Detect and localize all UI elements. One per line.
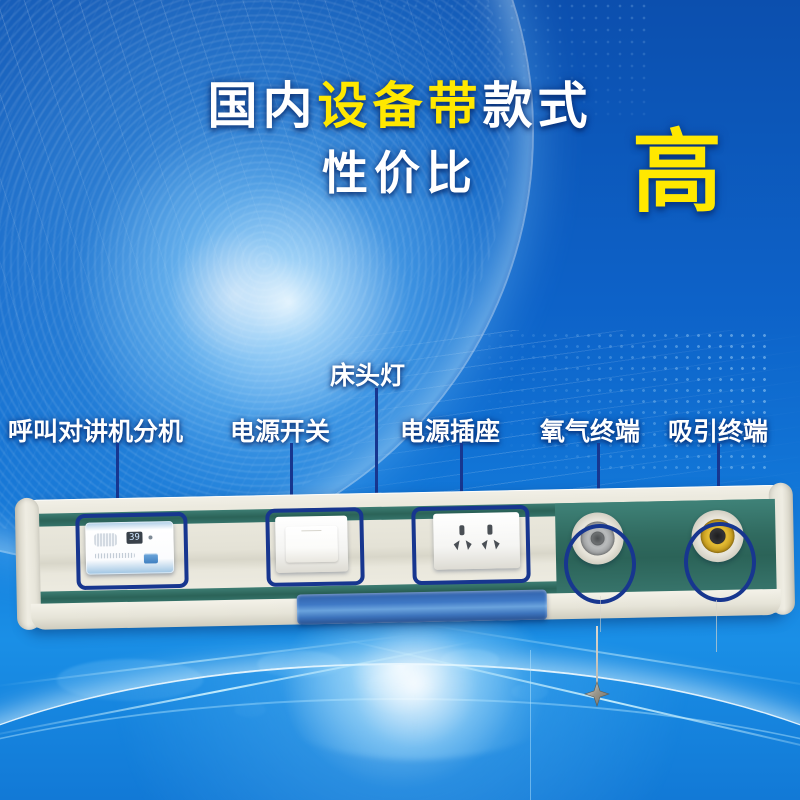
vertical-accent-line: [530, 650, 531, 800]
swoosh-line-3: [0, 634, 409, 687]
promo-banner: 国内设备带款式 性价比 高 呼叫对讲机分机 电源开关 床头灯 电源插座 氧气终端…: [0, 0, 800, 800]
horizon-arc-glow: [0, 663, 800, 800]
hanging-wire-thin: [600, 596, 601, 632]
swoosh-line-2: [337, 637, 800, 765]
highlight-box-power-switch: [265, 507, 365, 587]
callout-label-intercom: 呼叫对讲机分机: [8, 412, 183, 448]
headline-line-2-wrap: 性价比 高: [0, 134, 800, 226]
headline-text-1a: 国内: [208, 77, 318, 135]
horizon-arc-outer: [0, 698, 800, 800]
world-map-silhouette: [0, 640, 800, 760]
metal-plug-connector-icon: [583, 680, 611, 708]
highlight-box-intercom: [75, 512, 189, 590]
hanging-wire-right: [716, 600, 717, 652]
callout-label-oxygen: 氧气终端: [540, 412, 640, 448]
callout-label-bed-lamp: 床头灯: [330, 356, 405, 392]
halftone-dots-right: [440, 330, 770, 470]
headline-big-character: 高: [632, 128, 722, 218]
callout-label-power-socket: 电源插座: [400, 412, 500, 448]
swoosh-line-4: [422, 623, 800, 691]
callout-label-power-switch: 电源开关: [230, 412, 330, 448]
headline-text-1b: 款式: [483, 77, 593, 135]
highlight-box-power-socket: [411, 505, 531, 585]
headline-block: 国内设备带款式 性价比 高: [0, 78, 800, 226]
headline-accent-text: 设备带: [318, 77, 483, 135]
bed-head-lamp-strip[interactable]: [297, 590, 548, 625]
